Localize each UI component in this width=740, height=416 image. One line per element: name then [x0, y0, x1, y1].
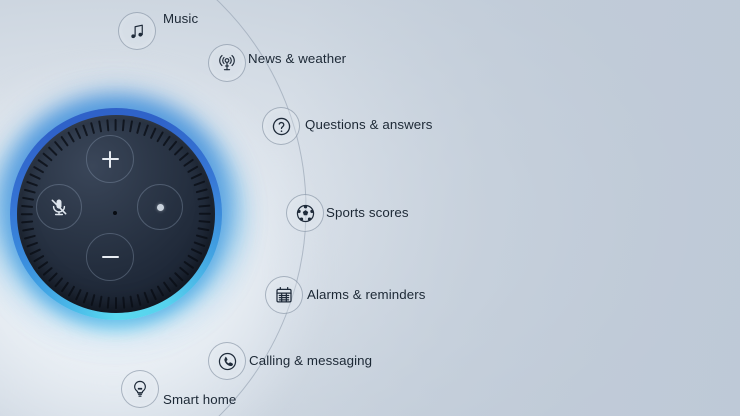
grille-tick: [43, 267, 53, 276]
grille-tick: [187, 166, 198, 173]
grille-tick: [137, 294, 142, 306]
grille-tick: [61, 136, 69, 147]
grille-tick: [137, 122, 142, 134]
microphone-pinhole: [113, 211, 117, 215]
grille-tick: [115, 119, 117, 131]
grille-tick: [187, 255, 198, 262]
grille-tick: [99, 296, 103, 308]
feature-label-questions-answers: Questions & answers: [305, 118, 433, 131]
grille-tick: [194, 242, 206, 248]
dot-icon: [157, 204, 164, 211]
grille-tick: [21, 220, 33, 223]
grille-tick: [38, 159, 49, 167]
feature-node-calling-messaging[interactable]: [208, 342, 246, 380]
grille-tick: [24, 189, 36, 194]
grille-tick: [48, 272, 58, 282]
feature-node-alarms-reminders[interactable]: [265, 276, 303, 314]
grille-tick: [184, 159, 195, 167]
plus-icon: [102, 151, 119, 168]
grille-tick: [54, 277, 63, 287]
feature-label-news-weather: News & weather: [248, 52, 346, 65]
grille-tick: [174, 272, 184, 282]
grille-tick: [199, 220, 211, 223]
grille-tick: [30, 173, 42, 180]
grille-tick: [38, 261, 49, 269]
grille-tick: [24, 235, 36, 240]
grille-tick: [150, 289, 157, 301]
microphone-mute-button[interactable]: [36, 184, 82, 230]
grille-tick: [144, 292, 150, 304]
grille-tick: [169, 277, 178, 287]
soccer-ball-icon: [295, 203, 316, 224]
grille-tick: [196, 189, 208, 194]
feature-node-news-weather[interactable]: [208, 44, 246, 82]
grille-tick: [61, 282, 69, 293]
grille-tick: [21, 205, 33, 208]
grille-tick: [91, 294, 96, 306]
echo-dot-device[interactable]: [10, 108, 222, 320]
feature-node-sports-scores[interactable]: [286, 194, 324, 232]
grille-tick: [33, 166, 44, 173]
grille-tick: [91, 122, 96, 134]
grille-tick: [199, 205, 211, 208]
feature-wheel-scene: Music News & weather Questions & answers: [0, 0, 740, 416]
music-note-icon: [128, 22, 147, 41]
feature-label-calling-messaging: Calling & messaging: [249, 354, 372, 367]
grille-tick: [30, 248, 42, 255]
grille-tick: [144, 124, 150, 136]
grille-tick: [198, 228, 210, 232]
grille-tick: [198, 197, 210, 201]
grille-tick: [22, 197, 34, 201]
lightbulb-icon: [130, 379, 150, 399]
feature-label-sports-scores: Sports scores: [326, 206, 409, 219]
volume-down-button[interactable]: [86, 233, 134, 281]
grille-tick: [122, 119, 125, 131]
grille-tick: [21, 213, 33, 215]
grille-tick: [115, 297, 117, 309]
grille-tick: [54, 141, 63, 151]
grille-tick: [191, 173, 203, 180]
grille-tick: [68, 131, 75, 142]
grille-tick: [179, 267, 189, 276]
grille-tick: [99, 120, 103, 132]
volume-up-button[interactable]: [86, 135, 134, 183]
feature-node-smart-home[interactable]: [121, 370, 159, 408]
mic-muted-icon: [49, 197, 69, 217]
grille-tick: [75, 128, 82, 140]
action-button[interactable]: [137, 184, 183, 230]
phone-icon: [217, 351, 238, 372]
question-icon: [271, 116, 292, 137]
grille-tick: [130, 120, 134, 132]
grille-tick: [33, 255, 44, 262]
grille-tick: [68, 285, 75, 296]
grille-tick: [26, 242, 38, 248]
grille-tick: [191, 248, 203, 255]
grille-tick: [22, 228, 34, 232]
grille-tick: [26, 181, 38, 187]
grille-tick: [157, 131, 164, 142]
feature-label-music: Music: [163, 12, 198, 25]
grille-tick: [107, 297, 110, 309]
grille-tick: [83, 124, 89, 136]
grille-tick: [199, 213, 211, 215]
feature-node-music[interactable]: [118, 12, 156, 50]
grille-tick: [196, 235, 208, 240]
grille-tick: [163, 282, 171, 293]
grille-tick: [194, 181, 206, 187]
grille-tick: [43, 152, 53, 161]
grille-tick: [75, 289, 82, 301]
feature-label-alarms-reminders: Alarms & reminders: [307, 288, 426, 301]
grille-tick: [157, 285, 164, 296]
grille-tick: [150, 128, 157, 140]
broadcast-icon: [217, 53, 237, 73]
grille-tick: [184, 261, 195, 269]
minus-icon: [102, 249, 119, 266]
grille-tick: [174, 146, 184, 156]
grille-tick: [48, 146, 58, 156]
feature-node-questions-answers[interactable]: [262, 107, 300, 145]
grille-tick: [179, 152, 189, 161]
grille-tick: [130, 296, 134, 308]
grille-tick: [107, 119, 110, 131]
grille-tick: [122, 297, 125, 309]
calendar-icon: [274, 285, 294, 305]
grille-tick: [83, 292, 89, 304]
grille-tick: [169, 141, 178, 151]
feature-label-smart-home: Smart home: [163, 393, 236, 406]
grille-tick: [163, 136, 171, 147]
